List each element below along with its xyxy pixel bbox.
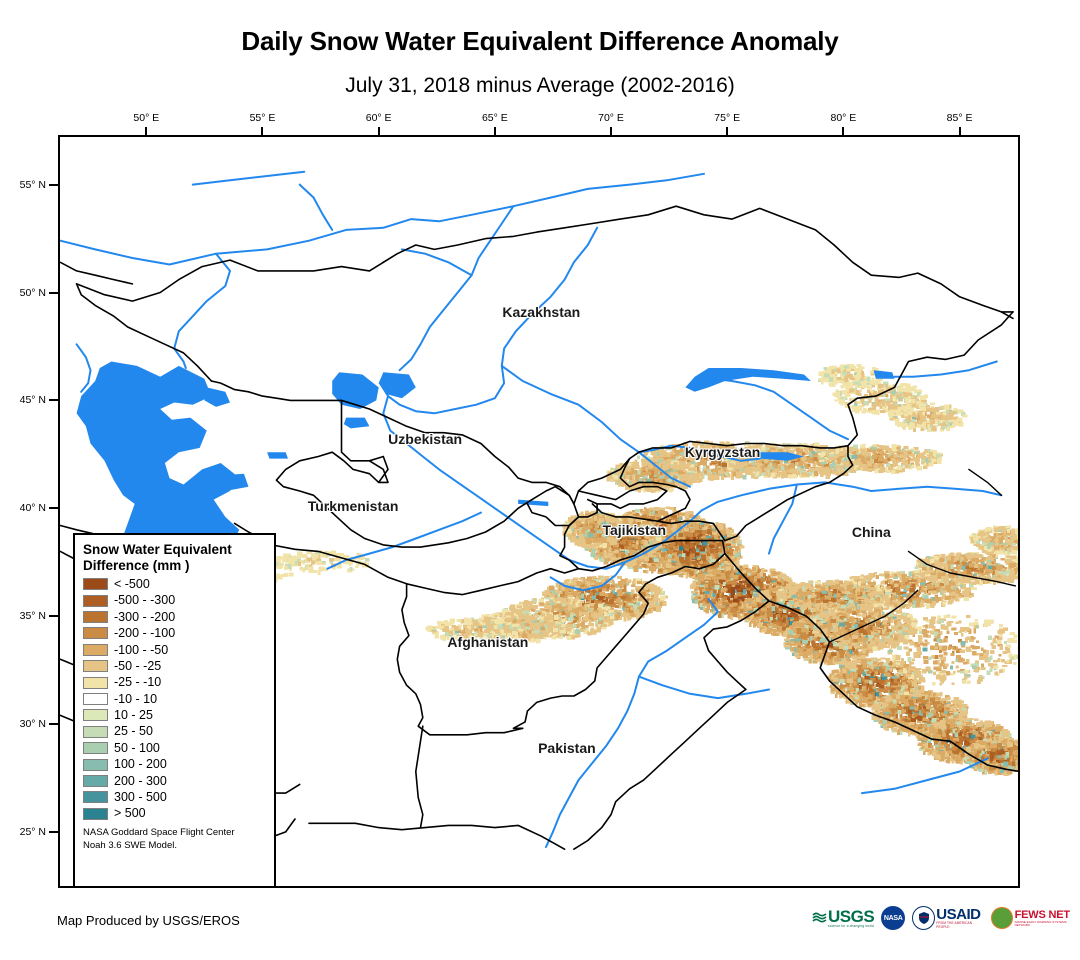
swe-anomaly-pixel [663,570,667,573]
swe-anomaly-pixel [855,465,858,467]
swe-anomaly-pixel [703,541,708,545]
swe-anomaly-pixel [885,451,888,454]
swe-anomaly-pixel [897,467,902,470]
swe-anomaly-pixel [673,553,677,556]
swe-anomaly-pixel [916,458,921,462]
swe-anomaly-pixel [691,554,695,559]
swe-anomaly-pixel [897,460,900,463]
swe-anomaly-pixel [686,464,690,469]
swe-anomaly-pixel [789,451,792,453]
lon-tick-label-65: 65° E [482,112,508,124]
swe-anomaly-pixel [632,561,637,564]
lon-tick-label-70: 70° E [598,112,624,124]
swe-anomaly-pixel [650,478,653,481]
swe-anomaly-pixel [893,454,898,458]
swe-anomaly-pixel [628,540,633,544]
swe-anomaly-pixel [670,542,675,546]
swe-anomaly-pixel [739,546,745,549]
swe-anomaly-pixel [813,457,817,461]
swe-anomaly-pixel [643,570,647,573]
swe-anomaly-pixel [672,555,675,557]
lat-tick-label-30: 30° N [0,718,46,730]
swe-anomaly-pixel [637,471,640,475]
swe-anomaly-pixel [608,547,611,552]
swe-anomaly-pixel [923,464,927,466]
swe-anomaly-pixel [757,463,762,466]
swe-anomaly-pixel [699,534,703,537]
swe-anomaly-pixel [893,464,897,467]
swe-anomaly-pixel [727,534,731,538]
swe-anomaly-pixel [834,472,838,475]
swe-anomaly-pixel [734,465,740,469]
swe-anomaly-pixel [756,472,759,475]
swe-anomaly-pixel [788,465,791,470]
swe-anomaly-pixel [892,445,897,450]
lon-tick-label-85: 85° E [947,112,973,124]
swe-anomaly-pixel [761,446,766,450]
swe-anomaly-pixel [770,448,776,451]
swe-anomaly-pixel [824,471,828,475]
swe-anomaly-pixel [634,567,639,572]
swe-anomaly-pixel [692,561,696,565]
swe-anomaly-pixel [591,553,596,557]
swe-anomaly-pixel [903,446,908,449]
swe-anomaly-pixel [658,563,661,567]
lon-tick-label-60: 60° E [366,112,392,124]
swe-anomaly-pixel [679,463,684,468]
swe-anomaly-pixel [788,475,792,479]
swe-anomaly-pixel [679,546,684,550]
swe-anomaly-pixel [742,475,746,479]
swe-anomaly-pixel [630,468,634,473]
swe-anomaly-pixel [809,470,813,473]
swe-anomaly-pixel [821,470,825,473]
swe-anomaly-pixel [736,540,741,543]
swe-anomaly-pixel [778,472,781,476]
swe-anomaly-pixel [729,552,733,555]
swe-anomaly-pixel [908,452,912,455]
swe-anomaly-pixel [662,563,665,568]
swe-anomaly-pixel [643,557,649,559]
swe-anomaly-pixel [912,454,915,457]
swe-anomaly-pixel [652,569,656,571]
swe-anomaly-pixel [640,541,643,545]
lon-tick-label-80: 80° E [830,112,856,124]
swe-anomaly-pixel [875,469,878,474]
swe-anomaly-pixel [870,459,874,464]
lat-tick-label-40: 40° N [0,502,46,514]
swe-anomaly-pixel [651,516,655,520]
swe-anomaly-pixel [774,463,777,467]
swe-anomaly-pixel [782,471,787,476]
swe-anomaly-pixel [708,568,711,570]
swe-anomaly-pixel [694,525,699,530]
lat-tick-label-45: 45° N [0,394,46,406]
swe-anomaly-pixel [740,473,743,477]
swe-anomaly-pixel [830,454,835,456]
lat-tick-label-50: 50° N [0,287,46,299]
swe-anomaly-pixel [685,557,689,561]
swe-anomaly-pixel [710,549,715,554]
swe-anomaly-pixel [912,464,915,467]
swe-anomaly-pixel [609,476,612,479]
swe-anomaly-pixel [684,545,689,550]
swe-anomaly-pixel [883,446,887,450]
swe-anomaly-pixel [904,465,909,469]
swe-anomaly-pixel [625,475,629,479]
swe-anomaly-pixel [722,463,727,468]
swe-anomaly-pixel [656,550,661,552]
swe-anomaly-pixel [711,469,714,472]
swe-anomaly-pixel [851,455,857,459]
swe-anomaly-pixel [831,449,835,452]
swe-anomaly-pixel [704,461,707,465]
swe-anomaly-pixel [624,546,628,549]
swe-anomaly-pixel [736,537,739,540]
swe-anomaly-pixel [689,571,694,575]
swe-anomaly-pixel [937,459,941,464]
swe-anomaly-pixel [873,465,878,469]
swe-anomaly-pixel [681,573,684,578]
swe-anomaly-pixel [911,458,914,462]
swe-anomaly-pixel [697,530,702,533]
swe-anomaly-pixel [745,471,749,475]
swe-anomaly-pixel [768,466,771,470]
swe-anomaly-pixel [700,561,704,564]
swe-anomaly-pixel [654,559,659,562]
swe-anomaly-pixel [712,529,715,531]
swe-anomaly-pixel [635,509,640,513]
swe-anomaly-pixel [902,468,905,472]
swe-anomaly-pixel [853,445,858,449]
swe-anomaly-pixel [696,545,700,548]
swe-anomaly-pixel [704,468,708,471]
swe-anomaly-pixel [639,565,643,568]
swe-anomaly-pixel [642,472,648,476]
swe-anomaly-pixel [707,531,711,534]
swe-anomaly-pixel [698,472,703,476]
swe-anomaly-pixel [771,472,776,477]
swe-anomaly-pixel [827,460,830,463]
swe-anomaly-pixel [599,559,604,562]
swe-anomaly-pixel [629,552,633,555]
swe-anomaly-pixel [878,458,884,462]
swe-anomaly-pixel [642,461,648,464]
swe-anomaly-pixel [685,515,688,519]
swe-anomaly-pixel [661,510,665,515]
swe-anomaly-pixel [668,559,671,562]
swe-anomaly-pixel [693,537,696,539]
swe-anomaly-pixel [828,450,831,453]
swe-anomaly-pixel [644,507,647,510]
swe-anomaly-pixel [801,473,807,476]
lon-tick-label-55: 55° E [250,112,276,124]
swe-anomaly-pixel [860,445,865,449]
swe-anomaly-pixel [686,562,691,565]
swe-anomaly-pixel [663,549,666,552]
swe-anomaly-pixel [885,469,889,472]
swe-anomaly-pixel [880,468,885,473]
swe-anomaly-pixel [683,474,686,478]
swe-anomaly-pixel [652,511,655,515]
swe-anomaly-pixel [844,458,847,462]
swe-anomaly-pixel [668,549,672,554]
swe-anomaly-pixel [721,475,724,480]
swe-anomaly-pixel [708,473,711,478]
swe-anomaly-pixel [716,546,719,549]
swe-anomaly-pixel [648,471,652,475]
swe-anomaly-layer [188,364,1018,776]
swe-anomaly-pixel [658,569,663,573]
swe-anomaly-pixel [800,468,803,470]
swe-anomaly-pixel [917,454,922,459]
swe-anomaly-pixel [614,475,619,480]
swe-anomaly-pixel [833,456,837,460]
swe-anomaly-pixel [662,465,668,470]
swe-anomaly-pixel [669,487,673,492]
swe-anomaly-pixel [657,450,660,453]
swe-anomaly-pixel [719,548,722,553]
swe-anomaly-pixel [651,550,656,554]
swe-anomaly-pixel [731,544,736,546]
lon-tick-label-75: 75° E [714,112,740,124]
swe-anomaly-pixel [798,450,803,454]
swe-anomaly-pixel [753,466,758,469]
swe-anomaly-pixel [632,544,635,547]
swe-anomaly-pixel [596,550,599,553]
swe-anomaly-pixel [836,449,839,453]
swe-anomaly-pixel [632,464,635,467]
swe-anomaly-pixel [680,478,684,481]
swe-anomaly-pixel [672,515,677,517]
swe-anomaly-pixel [704,470,707,474]
swe-anomaly-pixel [929,452,934,456]
swe-anomaly-pixel [727,552,730,555]
swe-anomaly-pixel [732,546,737,548]
swe-anomaly-pixel [729,531,733,533]
swe-anomaly-pixel [681,564,685,566]
swe-anomaly-pixel [683,572,687,575]
swe-anomaly-pixel [872,454,877,459]
swe-anomaly-pixel [873,450,877,454]
swe-anomaly-pixel [693,467,697,471]
swe-anomaly-pixel [690,523,696,526]
swe-anomaly-pixel [659,476,664,479]
swe-anomaly-pixel [860,456,864,459]
swe-anomaly-pixel [936,454,941,457]
swe-anomaly-pixel [691,479,696,482]
swe-anomaly-pixel [717,543,722,546]
swe-anomaly-pixel [648,563,651,567]
swe-anomaly-pixel [679,453,684,456]
swe-anomaly-pixel [877,449,883,453]
swe-anomaly-pixel [714,554,719,557]
swe-anomaly-pixel [800,460,803,462]
swe-anomaly-pixel [708,525,711,527]
swe-anomaly-pixel [904,461,908,465]
swe-anomaly-pixel [915,467,921,469]
swe-anomaly-pixel [625,551,628,555]
swe-anomaly-pixel [692,550,696,553]
swe-anomaly-pixel [653,459,656,462]
swe-anomaly-pixel [685,477,690,481]
swe-anomaly-pixel [843,451,846,456]
swe-anomaly-pixel [667,462,670,464]
swe-anomaly-pixel [821,452,826,456]
swe-anomaly-pixel [654,452,657,456]
swe-anomaly-pixel [675,546,679,549]
swe-anomaly-pixel [926,453,929,456]
swe-anomaly-pixel [859,461,862,466]
swe-anomaly-pixel [703,530,707,534]
swe-anomaly-pixel [637,455,640,458]
swe-anomaly-pixel [781,467,785,471]
swe-anomaly-pixel [669,507,674,510]
swe-anomaly-pixel [817,466,823,471]
swe-anomaly-pixel [819,460,824,463]
swe-anomaly-pixel [726,544,731,547]
swe-anomaly-pixel [668,479,673,482]
swe-anomaly-pixel [667,525,671,530]
lon-tick-label-50: 50° E [133,112,159,124]
swe-anomaly-pixel [761,473,765,476]
swe-anomaly-pixel [666,564,670,568]
swe-anomaly-pixel [675,572,678,575]
swe-anomaly-pixel [628,512,632,514]
swe-anomaly-pixel [635,545,638,550]
swe-anomaly-pixel [809,454,812,457]
page-subtitle: July 31, 2018 minus Average (2002-2016) [0,74,1080,98]
swe-anomaly-pixel [608,553,614,557]
lat-tick-label-25: 25° N [0,826,46,838]
swe-anomaly-pixel [689,474,692,476]
swe-anomaly-pixel [688,533,693,537]
swe-anomaly-pixel [674,463,678,465]
swe-anomaly-pixel [792,470,796,474]
swe-anomaly-pixel [886,463,889,467]
swe-anomaly-pixel [857,467,861,470]
swe-anomaly-pixel [724,561,729,564]
swe-anomaly-pixel [865,453,868,458]
swe-anomaly-pixel [706,556,710,561]
swe-anomaly-pixel [900,454,903,458]
swe-anomaly-pixel [671,563,675,566]
swe-anomaly-pixel [650,474,654,478]
swe-anomaly-pixel [665,555,668,560]
swe-anomaly-pixel [710,545,715,548]
swe-anomaly-pixel [728,463,734,467]
swe-anomaly-pixel [729,547,732,549]
swe-anomaly-pixel [692,473,697,475]
swe-anomaly-pixel [646,488,651,492]
swe-anomaly-pixel [661,452,666,456]
swe-anomaly-pixel [661,557,664,561]
swe-anomaly-pixel [611,548,615,551]
swe-anomaly-pixel [838,452,843,456]
swe-anomaly-pixel [718,470,723,474]
swe-anomaly-pixel [649,567,652,571]
swe-anomaly-pixel [636,513,640,516]
swe-anomaly-pixel [710,463,713,466]
swe-anomaly-pixel [795,462,799,465]
swe-anomaly-pixel [643,475,646,479]
swe-anomaly-pixel [680,513,685,516]
swe-anomaly-pixel [907,457,910,460]
swe-anomaly-pixel [715,551,718,554]
swe-anomaly-pixel [804,464,808,466]
swe-anomaly-pixel [643,541,648,545]
swe-anomaly-pixel [764,459,767,464]
swe-anomaly-pixel [931,459,937,463]
swe-anomaly-pixel [732,472,736,477]
swe-anomaly-pixel [671,520,675,523]
swe-anomaly-pixel [732,556,735,559]
swe-anomaly-pixel [696,478,702,481]
swe-anomaly-pixel [725,473,728,476]
lat-tick-label-55: 55° N [0,179,46,191]
swe-anomaly-pixel [618,482,621,487]
swe-anomaly-pixel [672,524,677,529]
swe-anomaly-pixel [736,461,739,465]
page-title: Daily Snow Water Equivalent Difference A… [0,26,1080,57]
swe-anomaly-pixel [683,532,688,536]
swe-anomaly-pixel [928,463,933,467]
swe-anomaly-pixel [774,469,780,472]
swe-anomaly-pixel [738,552,741,557]
swe-anomaly-pixel [867,468,873,471]
swe-anomaly-pixel [679,533,683,537]
swe-anomaly-pixel [710,553,713,557]
swe-anomaly-pixel [620,541,626,545]
swe-anomaly-pixel [634,467,637,470]
swe-anomaly-pixel [784,446,789,450]
swe-anomaly-pixel [632,475,635,479]
swe-anomaly-pixel [603,553,607,557]
swe-anomaly-pixel [877,444,880,447]
swe-anomaly-pixel [697,557,700,560]
swe-anomaly-pixel [778,464,782,466]
swe-anomaly-pixel [864,462,868,465]
swe-anomaly-pixel [663,479,666,483]
swe-anomaly-pixel [889,456,894,458]
swe-anomaly-pixel [701,555,706,560]
swe-anomaly-pixel [908,454,912,457]
swe-anomaly-pixel [832,461,836,466]
swe-anomaly-pixel [652,566,657,570]
swe-anomaly-pixel [675,451,680,456]
swe-anomaly-pixel [682,554,685,558]
swe-anomaly-pixel [814,471,819,476]
swe-anomaly-pixel [849,449,853,453]
swe-anomaly-pixel [902,460,905,465]
swe-anomaly-pixel [649,541,652,545]
lat-tick-label-35: 35° N [0,610,46,622]
swe-anomaly-pixel [925,458,928,462]
